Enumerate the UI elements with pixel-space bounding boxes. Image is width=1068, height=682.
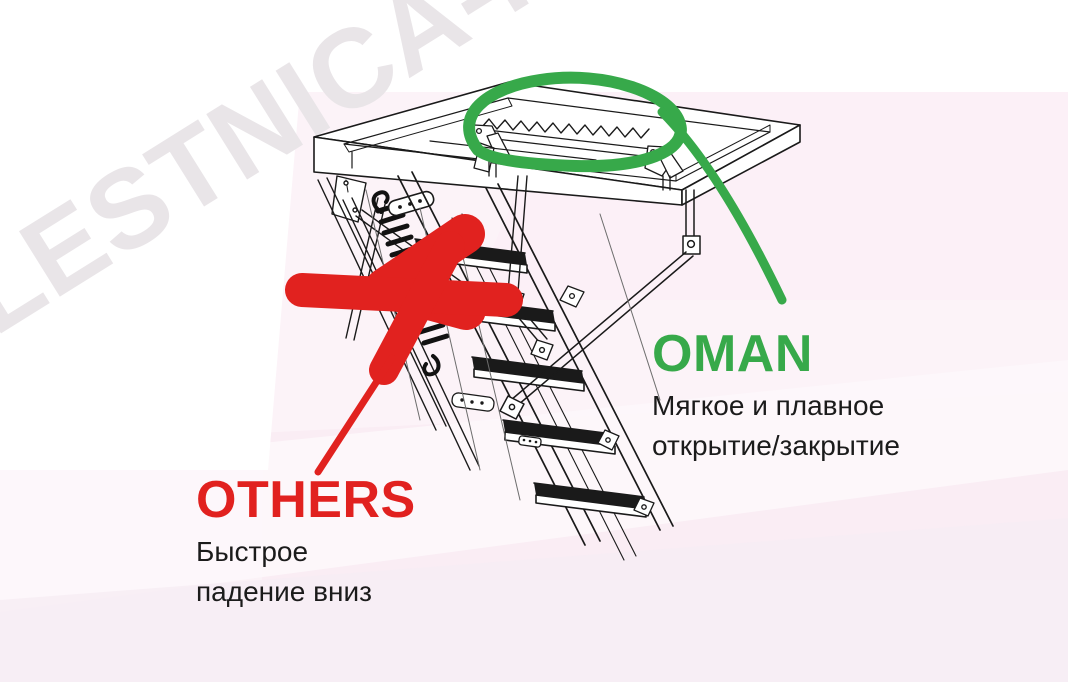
callout-others: OTHERS Быстрое падение вниз (196, 474, 416, 612)
others-subtitle-line2: падение вниз (196, 572, 416, 612)
others-subtitle-line1: Быстрое (196, 532, 416, 572)
text-layer: OMAN Мягкое и плавное открытие/закрытие … (0, 0, 1068, 682)
oman-title: OMAN (652, 328, 900, 380)
oman-subtitle-line1: Мягкое и плавное (652, 386, 900, 426)
others-title: OTHERS (196, 474, 416, 526)
callout-oman: OMAN Мягкое и плавное открытие/закрытие (652, 328, 900, 466)
promo-banner: LESTNICA-PROSTO.RU (0, 0, 1068, 682)
oman-subtitle-line2: открытие/закрытие (652, 426, 900, 466)
